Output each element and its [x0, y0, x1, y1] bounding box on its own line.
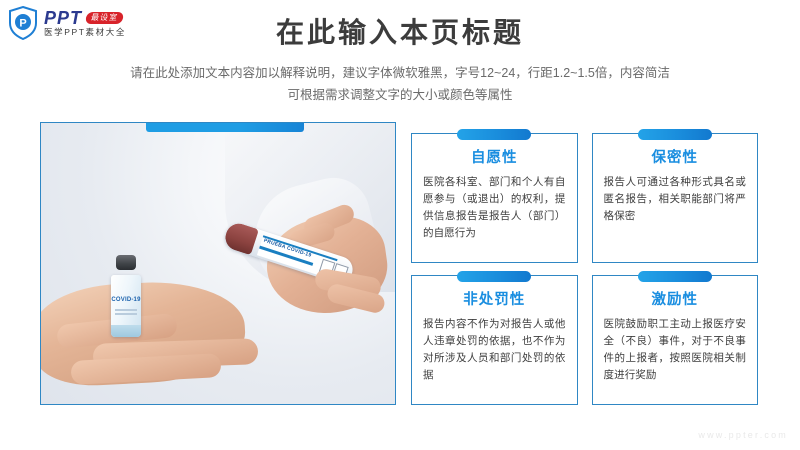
subtitle-line-1: 请在此处添加文本内容加以解释说明，建议字体微软雅黑，字号12~24，行距1.2~…: [0, 63, 800, 85]
photo-image: PRUEBA COVID-19 COVID-19: [41, 123, 395, 404]
vial-line: [115, 309, 137, 311]
card-title: 保密性: [604, 150, 747, 167]
card-tab: [457, 129, 531, 140]
vial-cap: [116, 255, 136, 270]
watermark: www.ppter.com: [698, 430, 788, 440]
feature-card-voluntary[interactable]: 自愿性 医院各科室、部门和个人有自愿参与（或退出）的权利，提供信息报告是报告人（…: [411, 133, 578, 263]
feature-card-incentive[interactable]: 激励性 医院鼓励职工主动上报医疗安全（不良）事件，对于不良事件的上报者，按照医院…: [592, 275, 759, 405]
card-body: 报告人可通过各种形式具名或匿名报告，相关职能部门将严格保密: [604, 174, 747, 225]
card-body: 医院鼓励职工主动上报医疗安全（不良）事件，对于不良事件的上报者，按照医院相关制度…: [604, 316, 747, 384]
vial-line: [115, 313, 137, 315]
feature-card-confidential[interactable]: 保密性 报告人可通过各种形式具名或匿名报告，相关职能部门将严格保密: [592, 133, 759, 263]
photo-vaccine-vial: COVID-19: [111, 275, 141, 337]
subtitle-line-2: 可根据需求调整文字的大小或颜色等属性: [0, 85, 800, 107]
vial-base: [111, 325, 141, 337]
card-body: 医院各科室、部门和个人有自愿参与（或退出）的权利，提供信息报告是报告人（部门）的…: [423, 174, 566, 242]
card-tab: [638, 129, 712, 140]
card-body: 报告内容不作为对报告人或他人违章处罚的依据，也不作为对所涉及人员和部门处罚的依据: [423, 316, 566, 384]
photo-accent-bar: [146, 123, 304, 132]
card-title: 非处罚性: [423, 292, 566, 309]
card-title: 自愿性: [423, 150, 566, 167]
page-title: 在此输入本页标题: [0, 16, 800, 50]
photo-panel: PRUEBA COVID-19 COVID-19: [40, 122, 396, 405]
card-title: 激励性: [604, 292, 747, 309]
feature-card-non-punitive[interactable]: 非处罚性 报告内容不作为对报告人或他人违章处罚的依据，也不作为对所涉及人员和部门…: [411, 275, 578, 405]
vial-label-text: COVID-19: [111, 297, 141, 303]
card-tab: [457, 271, 531, 282]
card-tab: [638, 271, 712, 282]
feature-card-grid: 自愿性 医院各科室、部门和个人有自愿参与（或退出）的权利，提供信息报告是报告人（…: [411, 133, 758, 405]
page-subtitle: 请在此处添加文本内容加以解释说明，建议字体微软雅黑，字号12~24，行距1.2~…: [0, 63, 800, 107]
